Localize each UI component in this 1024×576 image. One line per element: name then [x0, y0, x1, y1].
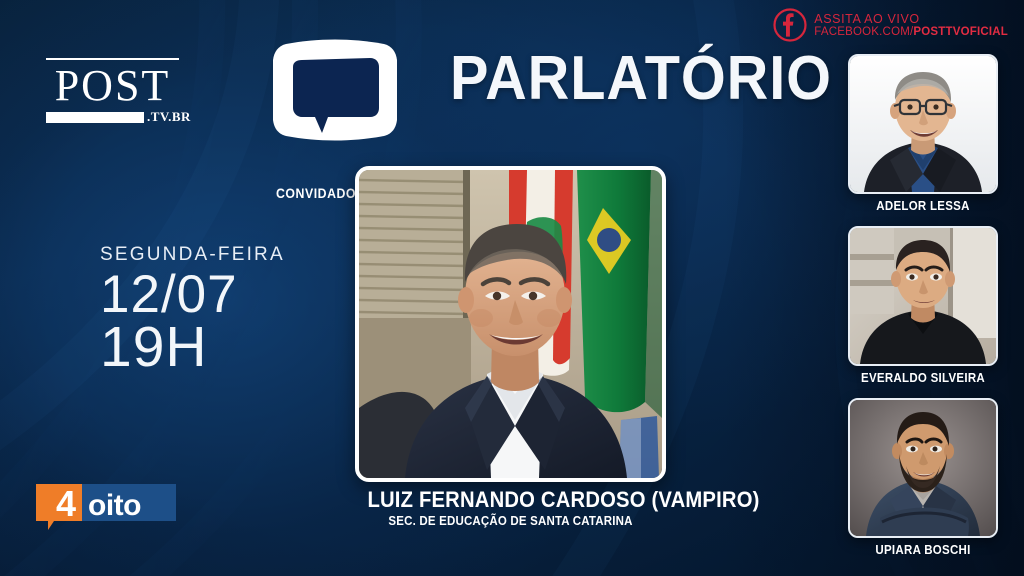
schedule-block: SEGUNDA-FEIRA 12/07 19H: [100, 244, 285, 376]
guest-photo-frame: [355, 166, 666, 482]
guest-label: CONVIDADO:: [276, 185, 361, 201]
facebook-live-banner[interactable]: ASSITA AO VIVO FACEBOOK.COM/POSTTVOFICIA…: [773, 8, 1008, 42]
schedule-date: 12/07: [100, 268, 285, 322]
facebook-live-url: FACEBOOK.COM/POSTTVOFICIAL: [814, 26, 1008, 39]
panelist-photo-frame: [848, 398, 998, 538]
panelist-1-artwork: [850, 56, 996, 192]
panelist-name: UPIARA BOSCHI: [854, 543, 992, 557]
guest-photo-artwork: [359, 170, 662, 478]
guest-role: SEC. DE EDUCAÇÃO DE SANTA CATARINA: [367, 514, 653, 528]
facebook-url-handle: POSTTVOFICIAL: [913, 26, 1008, 38]
panelist-3-artwork: [850, 400, 996, 536]
4oito-partner-logo: 4 oito: [36, 484, 176, 530]
post-logo-bottom-bar: [46, 112, 144, 123]
program-title: PARLATÓRIO: [450, 48, 832, 110]
facebook-live-headline: ASSITA AO VIVO: [814, 12, 1008, 26]
panelist-item: ADELOR LESSA: [848, 54, 998, 213]
post-logo-tld: .TV.BR: [147, 111, 191, 123]
guest-caption: LUIZ FERNANDO CARDOSO (VAMPIRO) SEC. DE …: [355, 487, 666, 528]
schedule-weekday: SEGUNDA-FEIRA: [100, 244, 285, 266]
panelist-list: ADELOR LESSA: [848, 54, 998, 570]
panelist-2-artwork: [850, 228, 996, 364]
facebook-url-prefix: FACEBOOK.COM/: [814, 26, 913, 38]
panelist-photo: [850, 400, 996, 536]
guest-photo: [359, 170, 662, 478]
guest-name: LUIZ FERNANDO CARDOSO (VAMPIRO): [367, 487, 653, 513]
panelist-photo-frame: [848, 54, 998, 194]
schedule-time: 19H: [100, 318, 285, 376]
panelist-item: EVERALDO SILVEIRA: [848, 226, 998, 385]
panelist-name: EVERALDO SILVEIRA: [854, 371, 992, 385]
4oito-logo-word: oito: [88, 489, 141, 522]
panelist-photo-frame: [848, 226, 998, 366]
post-logo-top-rule: [46, 58, 179, 60]
post-logo-wordmark: POST: [46, 64, 179, 108]
facebook-icon[interactable]: [773, 8, 807, 42]
broadcast-graphic-stage: POST .TV.BR PARLATÓRIO ASSITA AO VIVO FA…: [0, 0, 1024, 576]
panelist-photo: [850, 228, 996, 364]
4oito-logo-mark: 4: [56, 484, 76, 524]
panelist-photo: [850, 56, 996, 192]
post-tv-logo: POST .TV.BR: [46, 58, 196, 123]
tv-speech-bubble-icon: [272, 38, 398, 142]
panelist-name: ADELOR LESSA: [854, 199, 992, 213]
panelist-item: UPIARA BOSCHI: [848, 398, 998, 557]
